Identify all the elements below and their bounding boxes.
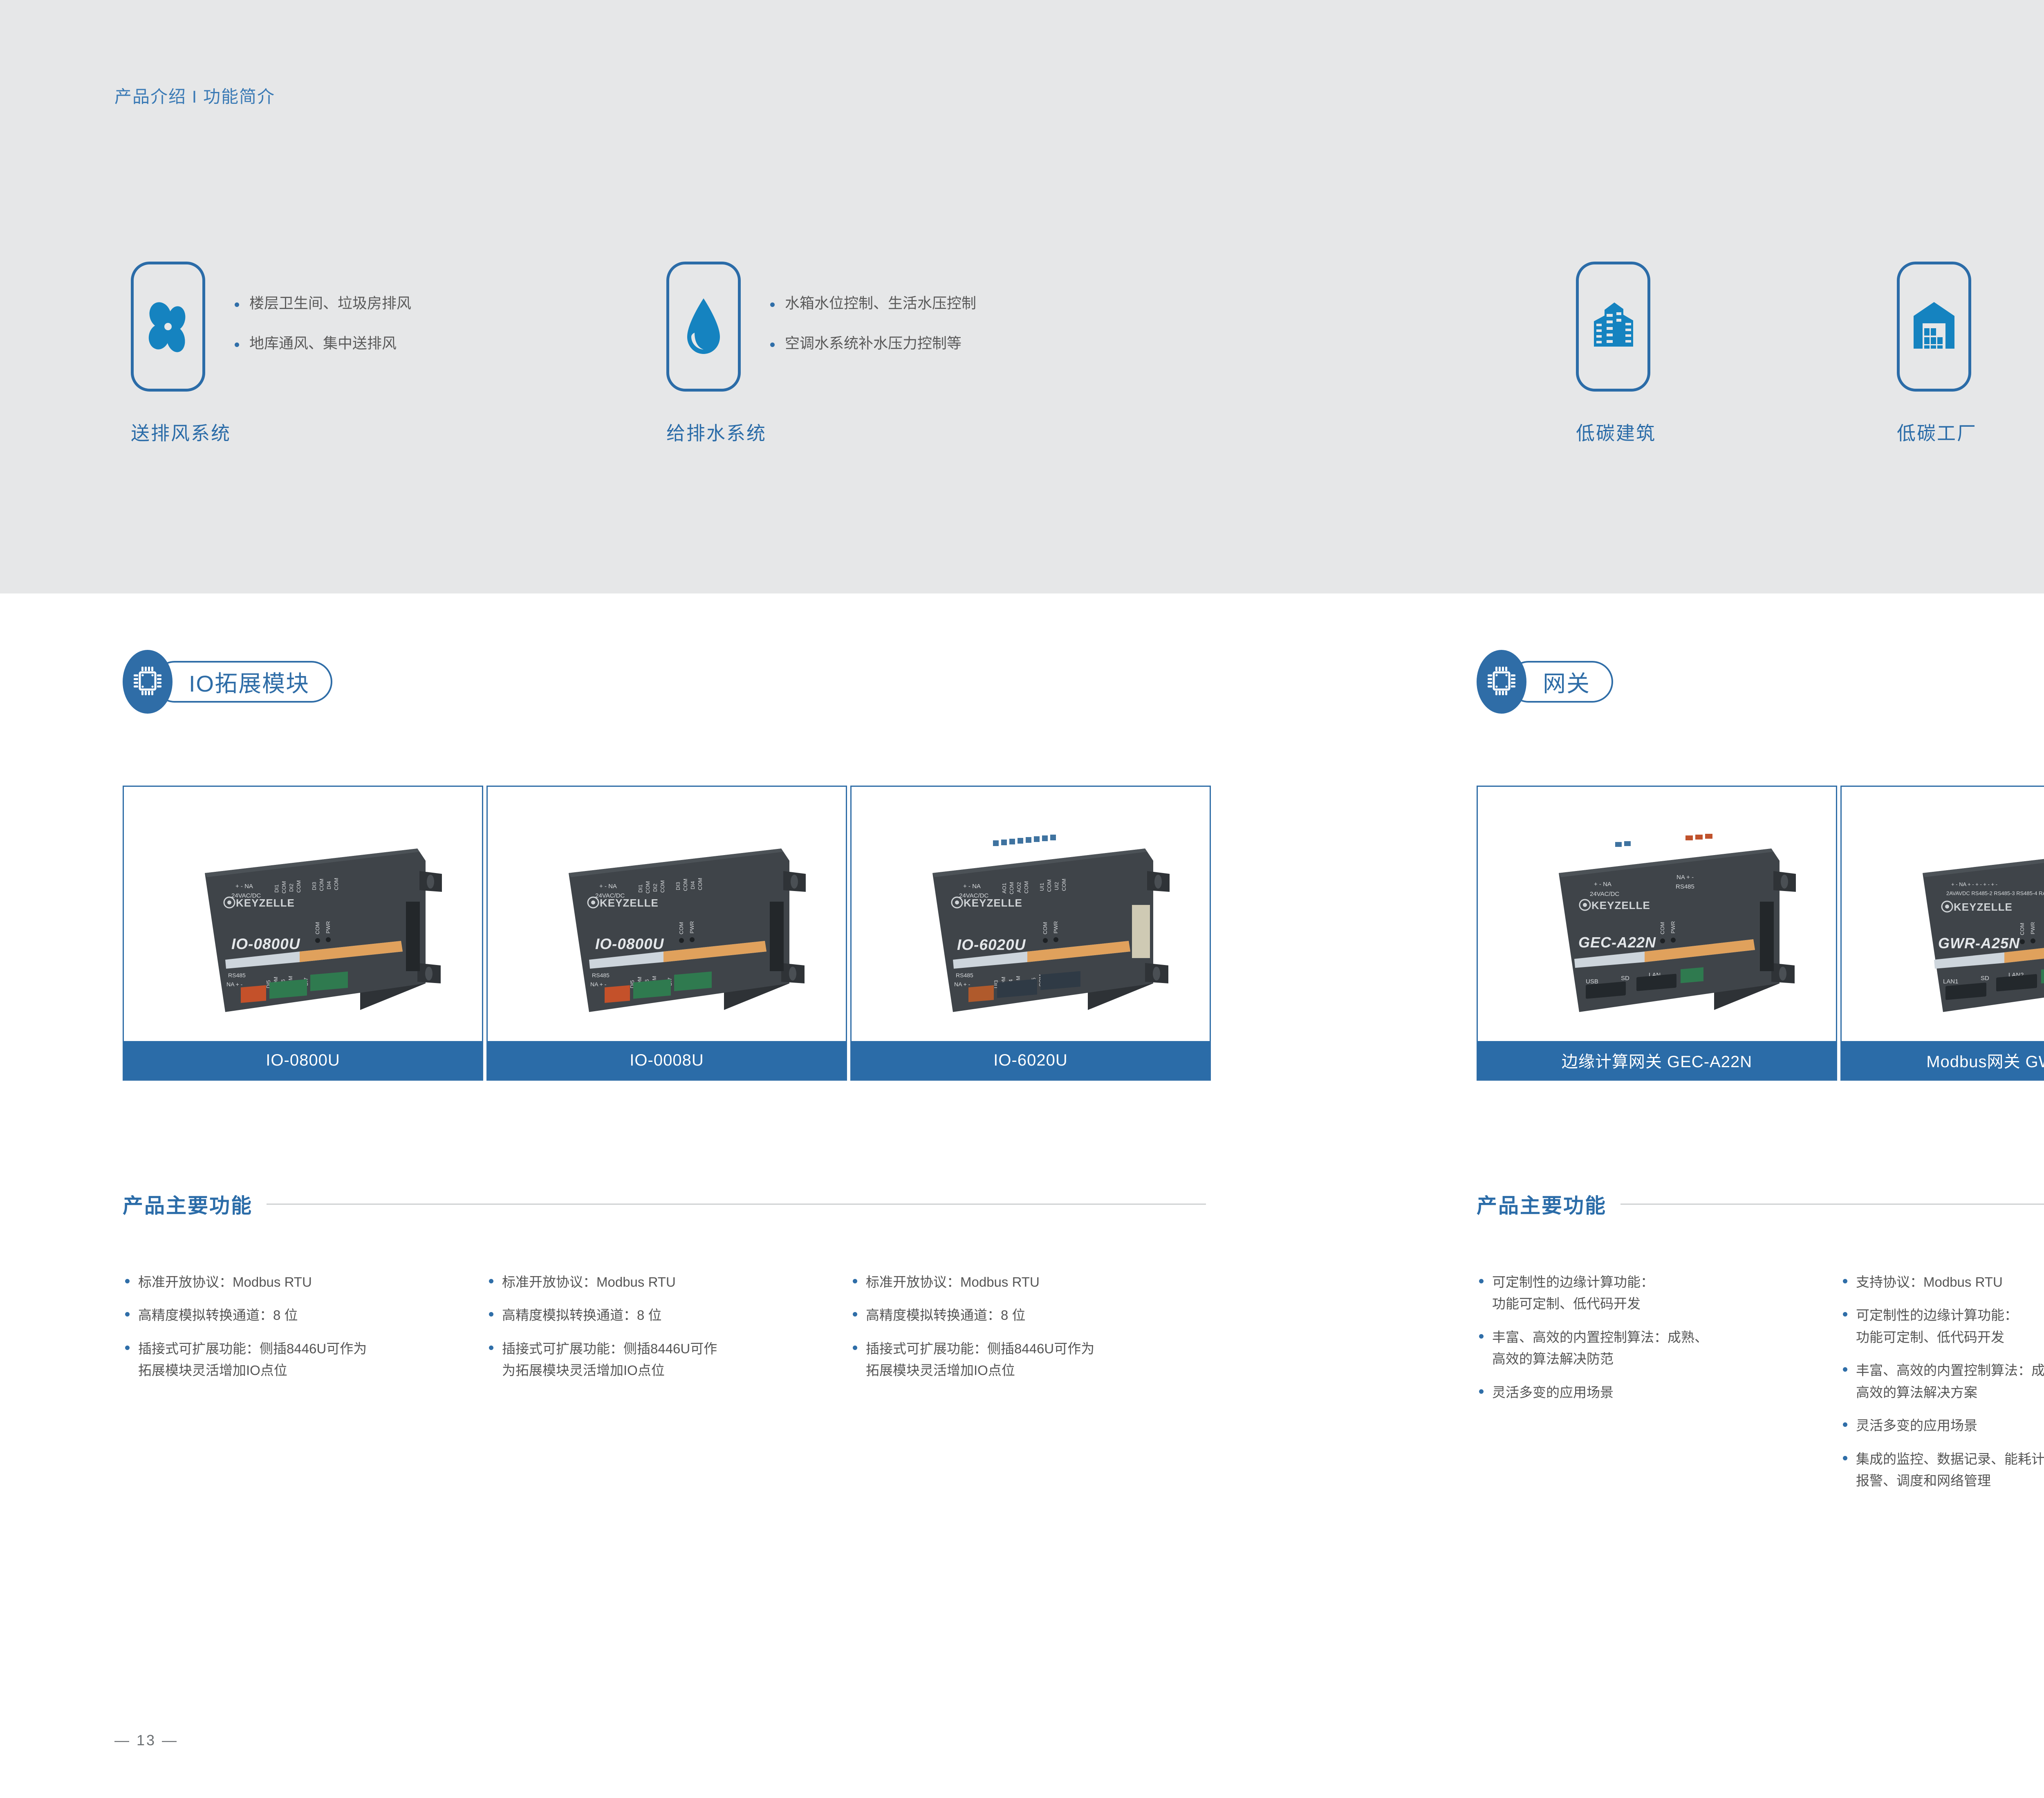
svg-text:DI2: DI2 xyxy=(652,884,658,892)
list-item: 集成的监控、数据记录、能耗计量、报警、调度和网络管理 xyxy=(1840,1448,2044,1492)
svg-text:KEYZELLE: KEYZELLE xyxy=(600,897,659,909)
features-column-gateway-1: 可定制性的边缘计算功能：功能可定制、低代码开发 丰富、高效的内置控制算法：成熟、… xyxy=(1477,1271,1840,1503)
product-photo-io-0008u: + - NA 24VAC/DC RS485 NA + - DI1 COM DI2… xyxy=(488,787,846,1041)
list-item: 空调水系统补水压力控制等 xyxy=(769,336,1079,351)
svg-text:PWR: PWR xyxy=(689,921,695,934)
svg-text:NA + -: NA + - xyxy=(954,981,970,987)
features-title-right: 产品主要功能 xyxy=(1477,1189,1607,1219)
svg-text:PWR: PWR xyxy=(1670,921,1676,934)
office-building-icon xyxy=(1589,298,1637,356)
svg-text:PWR: PWR xyxy=(325,921,331,934)
svg-text:COM: COM xyxy=(314,922,320,934)
list-item: 高精度模拟转换通道：8 位 xyxy=(850,1304,1214,1326)
list-item: 水箱水位控制、生活水压控制 xyxy=(769,296,1079,311)
svg-text:2AVAVDC RS485-2 RS485-3 RS485-: 2AVAVDC RS485-2 RS485-3 RS485-4 RA485-5 xyxy=(1946,890,2044,896)
application-caption-factory: 低碳工厂 xyxy=(1897,419,1971,446)
list-item: 可定制性的边缘计算功能：功能可定制、低代码开发 xyxy=(1477,1271,1840,1315)
section-badge-gateway: 网关 xyxy=(1477,650,1613,714)
application-block-factory: 低碳工厂 xyxy=(1897,262,1971,446)
svg-text:DI3: DI3 xyxy=(311,882,317,890)
application-block-building: 低碳建筑 xyxy=(1576,262,1650,446)
svg-text:+ - NA: + - NA xyxy=(599,883,617,890)
chip-icon-circle xyxy=(123,650,173,714)
office-building-icon-frame xyxy=(1576,262,1650,392)
svg-text:KEYZELLE: KEYZELLE xyxy=(1591,899,1650,911)
product-label-gwr-a25n: Modbus网关 GWR-A25N xyxy=(1842,1041,2044,1079)
list-item: 插接式可扩展功能：侧插8446U可作为拓展模块灵活增加IO点位 xyxy=(123,1338,486,1382)
svg-text:COM: COM xyxy=(659,880,666,893)
product-label-gec-a22n: 边缘计算网关 GEC-A22N xyxy=(1478,1041,1836,1079)
list-item: 可定制性的边缘计算功能：功能可定制、低代码开发 xyxy=(1840,1304,2044,1348)
svg-text:AO1: AO1 xyxy=(1001,883,1007,893)
application-block-water: 给排水系统 水箱水位控制、生活水压控制 空调水系统补水压力控制等 xyxy=(666,262,766,446)
product-photo-io-0800u: + - NA 24VAC/DC RS485 NA + - DI1 COM DI2… xyxy=(124,787,482,1041)
chip-icon-circle-gateway xyxy=(1477,650,1526,714)
application-block-ventilation: 送排风系统 楼层卫生间、垃圾房排风 地库通风、集中送排风 xyxy=(131,262,231,446)
svg-text:KEYZELLE: KEYZELLE xyxy=(964,897,1022,909)
svg-text:UI1: UI1 xyxy=(1039,883,1045,891)
svg-text:COM: COM xyxy=(682,879,688,891)
svg-text:NA + -: NA + - xyxy=(1676,874,1694,881)
list-item: 插接式可扩展功能：侧插8446U可作为拓展模块灵活增加IO点位 xyxy=(486,1338,850,1382)
svg-text:RS485: RS485 xyxy=(592,972,610,978)
section-badge-label-gateway: 网关 xyxy=(1543,665,1590,699)
product-photo-gec-a22n: + - NA 24VAC/DC NA + - RS485 USB SD LAN … xyxy=(1478,787,1836,1041)
fan-icon-frame xyxy=(131,262,205,392)
svg-text:SD: SD xyxy=(1981,975,1989,982)
svg-text:DI1: DI1 xyxy=(273,884,280,893)
product-label-io-6020u: IO-6020U xyxy=(852,1041,1210,1079)
features-column-3: 标准开放协议：Modbus RTU 高精度模拟转换通道：8 位 插接式可扩展功能… xyxy=(850,1271,1214,1393)
svg-text:COM: COM xyxy=(318,879,325,891)
svg-text:COM: COM xyxy=(333,878,339,890)
list-item: 丰富、高效的内置控制算法：成熟、高效的算法解决方案 xyxy=(1840,1359,2044,1403)
svg-text:COM: COM xyxy=(2019,923,2025,935)
svg-text:COM: COM xyxy=(678,922,684,934)
application-caption-ventilation: 送排风系统 xyxy=(131,419,231,446)
svg-text:KEYZELLE: KEYZELLE xyxy=(236,897,295,909)
svg-text:COM: COM xyxy=(1659,922,1665,934)
svg-text:COM: COM xyxy=(1061,879,1067,891)
features-header-right: 产品主要功能 xyxy=(1477,1189,2044,1219)
svg-text:COM: COM xyxy=(645,881,651,893)
application-bullets-water: 水箱水位控制、生活水压控制 空调水系统补水压力控制等 xyxy=(769,296,1079,376)
features-divider-left xyxy=(267,1204,1206,1205)
svg-text:PWR: PWR xyxy=(2030,922,2036,934)
svg-text:24VAC/DC: 24VAC/DC xyxy=(1590,891,1619,898)
product-photo-io-6020u: + - NA 24VAC/DC RS485 NA + - AO1 COM AO2… xyxy=(852,787,1210,1041)
factory-icon xyxy=(1911,298,1957,355)
svg-text:GWR-A25N: GWR-A25N xyxy=(1938,935,2020,952)
svg-text:COM: COM xyxy=(1023,881,1029,893)
features-column-gateway-2: 支持协议：Modbus RTU 可定制性的边缘计算功能：功能可定制、低代码开发 … xyxy=(1840,1271,2044,1503)
list-item: 标准开放协议：Modbus RTU xyxy=(123,1271,486,1293)
svg-text:DI2: DI2 xyxy=(288,884,294,892)
product-card-io-0800u[interactable]: + - NA 24VAC/DC RS485 NA + - DI1 COM DI2… xyxy=(123,786,483,1081)
svg-text:RS485: RS485 xyxy=(228,972,246,978)
features-columns-right: 可定制性的边缘计算功能：功能可定制、低代码开发 丰富、高效的内置控制算法：成熟、… xyxy=(1477,1271,2044,1503)
svg-text:+ - NA: + - NA xyxy=(235,883,253,890)
list-item: 地库通风、集中送排风 xyxy=(233,336,544,351)
list-item: 支持协议：Modbus RTU xyxy=(1840,1271,2044,1293)
chip-icon xyxy=(1486,663,1517,701)
application-caption-water: 给排水系统 xyxy=(666,419,766,446)
svg-text:+ - NA: + - NA xyxy=(963,883,981,890)
svg-text:IO-6020U: IO-6020U xyxy=(957,936,1026,953)
section-badge-io-modules: IO拓展模块 xyxy=(123,650,332,714)
svg-text:DI4: DI4 xyxy=(326,881,332,889)
page-number-left: — 13 — xyxy=(114,1732,178,1749)
section-badge-label-io: IO拓展模块 xyxy=(189,665,309,699)
svg-text:DI4: DI4 xyxy=(690,881,696,889)
svg-text:PWR: PWR xyxy=(1053,921,1059,934)
list-item: 灵活多变的应用场景 xyxy=(1840,1415,2044,1436)
application-caption-building: 低碳建筑 xyxy=(1576,419,1650,446)
svg-text:NA + -: NA + - xyxy=(226,981,243,987)
features-columns-left: 标准开放协议：Modbus RTU 高精度模拟转换通道：8 位 插接式可扩展功能… xyxy=(123,1271,1214,1393)
svg-text:KEYZELLE: KEYZELLE xyxy=(1954,901,2013,913)
svg-text:DI1: DI1 xyxy=(637,884,643,893)
svg-text:COM: COM xyxy=(697,878,703,890)
product-card-gwr-a25n[interactable]: + - NA + - + - + - + - 2AVAVDC RS485-2 R… xyxy=(1840,786,2044,1081)
section-badge-pill-io: IO拓展模块 xyxy=(154,661,332,703)
svg-text:COM: COM xyxy=(1009,882,1015,894)
product-photo-gwr-a25n: + - NA + - + - + - + - 2AVAVDC RS485-2 R… xyxy=(1842,787,2044,1041)
svg-text:DI3: DI3 xyxy=(675,882,681,890)
product-card-gec-a22n[interactable]: + - NA 24VAC/DC NA + - RS485 USB SD LAN … xyxy=(1477,786,1837,1081)
features-column-2: 标准开放协议：Modbus RTU 高精度模拟转换通道：8 位 插接式可扩展功能… xyxy=(486,1271,850,1393)
svg-text:+ - NA: + - NA xyxy=(1594,881,1611,888)
svg-text:COM: COM xyxy=(1046,880,1052,892)
list-item: 插接式可扩展功能：侧插8446U可作为拓展模块灵活增加IO点位 xyxy=(850,1338,1214,1382)
water-drop-icon-frame xyxy=(666,262,741,392)
svg-text:IO-0800U: IO-0800U xyxy=(231,936,300,952)
list-item: 高精度模拟转换通道：8 位 xyxy=(123,1304,486,1326)
product-card-io-6020u[interactable]: + - NA 24VAC/DC RS485 NA + - AO1 COM AO2… xyxy=(850,786,1211,1081)
list-item: 标准开放协议：Modbus RTU xyxy=(850,1271,1214,1293)
svg-text:SD: SD xyxy=(1621,975,1629,982)
features-header-left: 产品主要功能 xyxy=(123,1189,1206,1219)
svg-text:LAN1: LAN1 xyxy=(1943,978,1959,985)
product-label-io-0008u: IO-0008U xyxy=(488,1041,846,1079)
brochure-spread: 产品介绍 I 功能简介 产品介绍 I 功能简介 送排风系统 楼层卫生间、垃圾房排… xyxy=(0,0,2044,1798)
svg-text:COM: COM xyxy=(1042,922,1048,934)
header-left-title: 产品介绍 I 功能简介 xyxy=(114,83,275,108)
list-item: 丰富、高效的内置控制算法：成熟、高效的算法解决防范 xyxy=(1477,1326,1840,1370)
svg-text:+ - NA + - + -: + - NA + - + - + - + - xyxy=(1951,881,1997,887)
svg-text:NA + -: NA + - xyxy=(590,981,607,987)
list-item: 高精度模拟转换通道：8 位 xyxy=(486,1304,850,1326)
svg-text:AO2: AO2 xyxy=(1016,882,1022,893)
features-title-left: 产品主要功能 xyxy=(123,1189,253,1219)
list-item: 标准开放协议：Modbus RTU xyxy=(486,1271,850,1293)
svg-text:GEC-A22N: GEC-A22N xyxy=(1578,934,1656,951)
application-bullets-ventilation: 楼层卫生间、垃圾房排风 地库通风、集中送排风 xyxy=(233,296,544,376)
svg-text:IO-0800U: IO-0800U xyxy=(595,936,664,952)
list-item: 灵活多变的应用场景 xyxy=(1477,1382,1840,1403)
features-divider-right xyxy=(1620,1204,2044,1205)
list-item: 楼层卫生间、垃圾房排风 xyxy=(233,296,544,311)
water-drop-icon xyxy=(682,296,725,357)
features-column-1: 标准开放协议：Modbus RTU 高精度模拟转换通道：8 位 插接式可扩展功能… xyxy=(123,1271,486,1393)
svg-text:RS485: RS485 xyxy=(956,972,973,978)
product-label-io-0800u: IO-0800U xyxy=(124,1041,482,1079)
fan-icon xyxy=(143,298,193,355)
svg-text:COM: COM xyxy=(296,880,302,893)
factory-icon-frame xyxy=(1897,262,1971,392)
svg-text:RS485: RS485 xyxy=(1676,883,1694,890)
chip-icon xyxy=(132,663,163,701)
product-card-io-0008u[interactable]: + - NA 24VAC/DC RS485 NA + - DI1 COM DI2… xyxy=(486,786,847,1081)
svg-text:UI2: UI2 xyxy=(1053,882,1060,890)
svg-text:COM: COM xyxy=(281,881,287,893)
